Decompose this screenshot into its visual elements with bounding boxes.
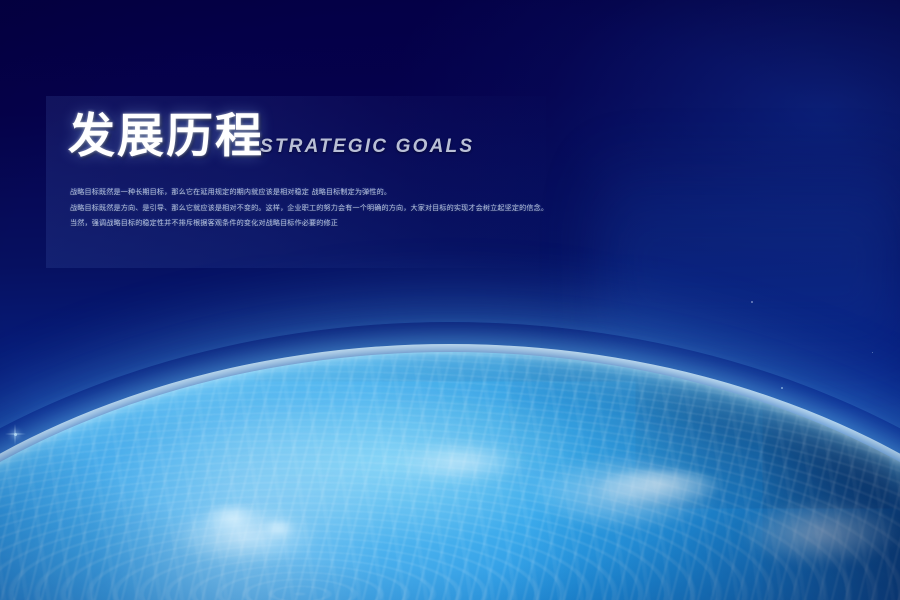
- hero-banner: 发展历程 STRATEGIC GOALS 战略目标既然是一种长期目标，那么它在延…: [0, 0, 900, 600]
- content-panel: 发展历程 STRATEGIC GOALS 战略目标既然是一种长期目标，那么它在延…: [46, 96, 546, 268]
- body-line: 战略目标既然是方向、是引导、那么它就应该是相对不变的。这样，企业职工的努力会有一…: [70, 200, 532, 216]
- title-row: 发展历程 STRATEGIC GOALS: [68, 114, 474, 161]
- body-line: 战略目标既然是一种长期目标，那么它在延用规定的期内就应该是相对稳定 战略目标制定…: [70, 184, 532, 200]
- body-copy: 战略目标既然是一种长期目标，那么它在延用规定的期内就应该是相对稳定 战略目标制定…: [70, 184, 532, 231]
- earth-illustration: [0, 0, 900, 600]
- page-subtitle: STRATEGIC GOALS: [260, 136, 474, 161]
- page-title: 发展历程: [68, 114, 264, 161]
- body-line: 当然，强调战略目标的稳定性并不排斥根据客观条件的变化对战略目标作必要的修正: [70, 215, 532, 231]
